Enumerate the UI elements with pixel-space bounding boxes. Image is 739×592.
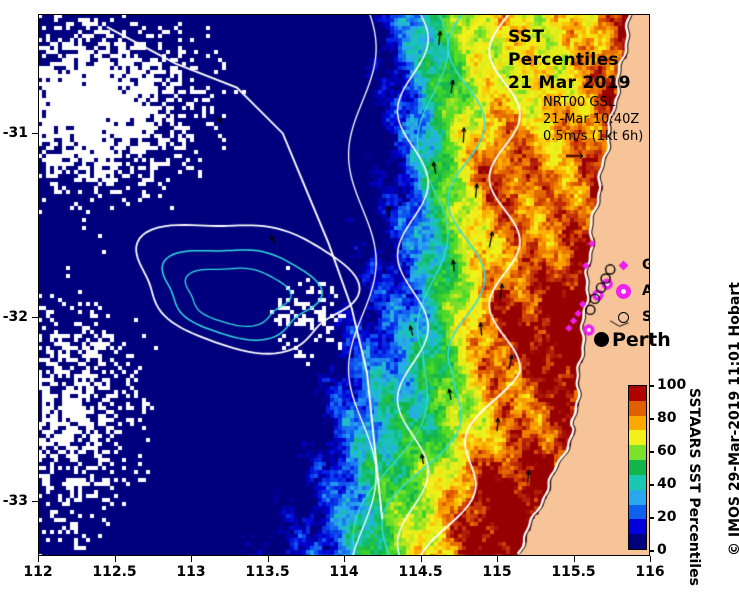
colorbar-tick-label: 60 (657, 443, 676, 459)
x-axis-tick (650, 556, 651, 562)
current-speed-label: 0.5m/s (1kt 6h) (543, 128, 643, 145)
x-axis-label: 115 (482, 564, 511, 580)
platform-legend: Glider Argo Ship (608, 252, 650, 330)
perth-city-label: Perth (612, 329, 671, 351)
glider-marker-icon (608, 262, 638, 269)
legend-item-glider: Glider (608, 252, 650, 278)
x-axis-tick (421, 556, 422, 562)
x-axis-label: 113 (176, 564, 205, 580)
x-axis-tick (191, 556, 192, 562)
colorbar-tick (649, 418, 654, 420)
colorbar-tick-label: 0 (657, 542, 667, 558)
y-axis-label: -33 (3, 493, 28, 509)
colorbar-tick (649, 484, 654, 486)
x-axis-tick (497, 556, 498, 562)
x-axis-label: 112.5 (92, 564, 136, 580)
current-vector-arrow-icon: ⟶ (565, 148, 643, 165)
legend-item-argo: Argo (608, 278, 650, 304)
colorbar-tick-label: 40 (657, 476, 676, 492)
colorbar-tick-label: 100 (657, 377, 686, 393)
map-title: SST Percentiles 21 Mar 2019 (508, 26, 650, 95)
x-axis-label: 114 (329, 564, 358, 580)
colorbar-segment (629, 519, 646, 534)
colorbar-tick-label: 80 (657, 410, 676, 426)
x-axis-label: 113.5 (245, 564, 289, 580)
y-axis-tick (32, 501, 38, 502)
legend-item-ship: Ship (608, 304, 650, 330)
y-axis-label: -31 (3, 125, 28, 141)
map-title-line1: SST Percentiles (508, 26, 650, 72)
x-axis-tick (115, 556, 116, 562)
colorbar-tick (649, 385, 654, 387)
colorbar-segment (629, 430, 646, 445)
x-axis-tick (38, 556, 39, 562)
colorbar-segment (629, 534, 646, 549)
colorbar-tick (649, 550, 654, 552)
current-time-label: 21-Mar 10:40Z (543, 111, 643, 128)
y-axis-label: -32 (3, 309, 28, 325)
x-axis-tick (574, 556, 575, 562)
colorbar-segment (629, 445, 646, 460)
map-title-line2: 21 Mar 2019 (508, 72, 650, 95)
colorbar-segment (629, 416, 646, 431)
colorbar-segment (629, 401, 646, 416)
colorbar-tick (649, 451, 654, 453)
x-axis-tick (268, 556, 269, 562)
colorbar-title: SSTAARS SST Percentiles (686, 388, 702, 548)
copyright-notice: © IMOS 29-Mar-2019 11:01 Hobart (727, 282, 739, 556)
current-info-block: NRT00 GSL 21-Mar 10:40Z 0.5m/s (1kt 6h) … (543, 94, 643, 165)
colorbar-segment (629, 490, 646, 505)
colorbar-segment (629, 505, 646, 520)
y-axis-tick (32, 317, 38, 318)
map-plot-area[interactable]: SST Percentiles 21 Mar 2019 200m 1000m N… (38, 14, 650, 556)
ship-marker-icon (608, 312, 638, 323)
x-axis-label: 115.5 (551, 564, 595, 580)
colorbar (628, 385, 647, 550)
current-product-label: NRT00 GSL (543, 94, 643, 111)
colorbar-segment (629, 475, 646, 490)
y-axis-tick (32, 133, 38, 134)
argo-marker-icon (608, 284, 638, 299)
colorbar-segment (629, 460, 646, 475)
x-axis-tick (344, 556, 345, 562)
sst-map-figure: SST Percentiles 21 Mar 2019 200m 1000m N… (0, 0, 739, 592)
legend-label-glider: Glider (642, 257, 650, 273)
colorbar-tick-label: 20 (657, 509, 676, 525)
legend-label-ship: Ship (642, 309, 650, 325)
x-axis-label: 116 (635, 564, 664, 580)
colorbar-tick (649, 517, 654, 519)
perth-city-marker (594, 332, 609, 347)
colorbar-segment (629, 386, 646, 401)
legend-label-argo: Argo (642, 283, 650, 299)
x-axis-label: 112 (23, 564, 52, 580)
x-axis-label: 114.5 (398, 564, 442, 580)
